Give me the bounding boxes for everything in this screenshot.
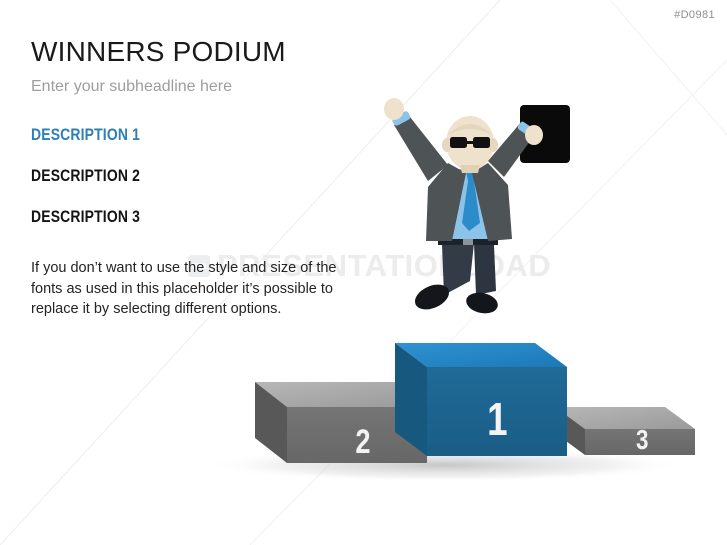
description-list: DESCRIPTION 1 DESCRIPTION 2 DESCRIPTION … <box>31 125 164 248</box>
winners-podium: 3 2 1 <box>195 325 695 485</box>
podium-1-rank: 1 <box>487 393 507 445</box>
podium-block-3[interactable]: 3 <box>555 407 695 456</box>
shoe-right <box>464 290 499 316</box>
podium-2-rank: 2 <box>355 422 370 461</box>
belt-buckle <box>463 238 473 245</box>
jumping-businessman <box>370 95 600 320</box>
left-arm <box>384 98 448 181</box>
page-subtitle: Enter your subheadline here <box>31 78 232 96</box>
slide-canvas: #D0981 WINNERS PODIUM Enter your subhead… <box>0 0 727 545</box>
podium-3-rank: 3 <box>636 425 648 456</box>
description-item-1[interactable]: DESCRIPTION 1 <box>31 125 140 145</box>
page-title: WINNERS PODIUM <box>31 36 286 68</box>
document-code: #D0981 <box>674 9 715 21</box>
description-item-2[interactable]: DESCRIPTION 2 <box>31 166 140 186</box>
body-placeholder-text[interactable]: If you don’t want to use the style and s… <box>31 258 361 320</box>
neck <box>460 165 480 173</box>
description-item-3[interactable]: DESCRIPTION 3 <box>31 207 140 227</box>
podium-block-1[interactable]: 1 <box>395 343 567 456</box>
legs <box>411 243 500 316</box>
